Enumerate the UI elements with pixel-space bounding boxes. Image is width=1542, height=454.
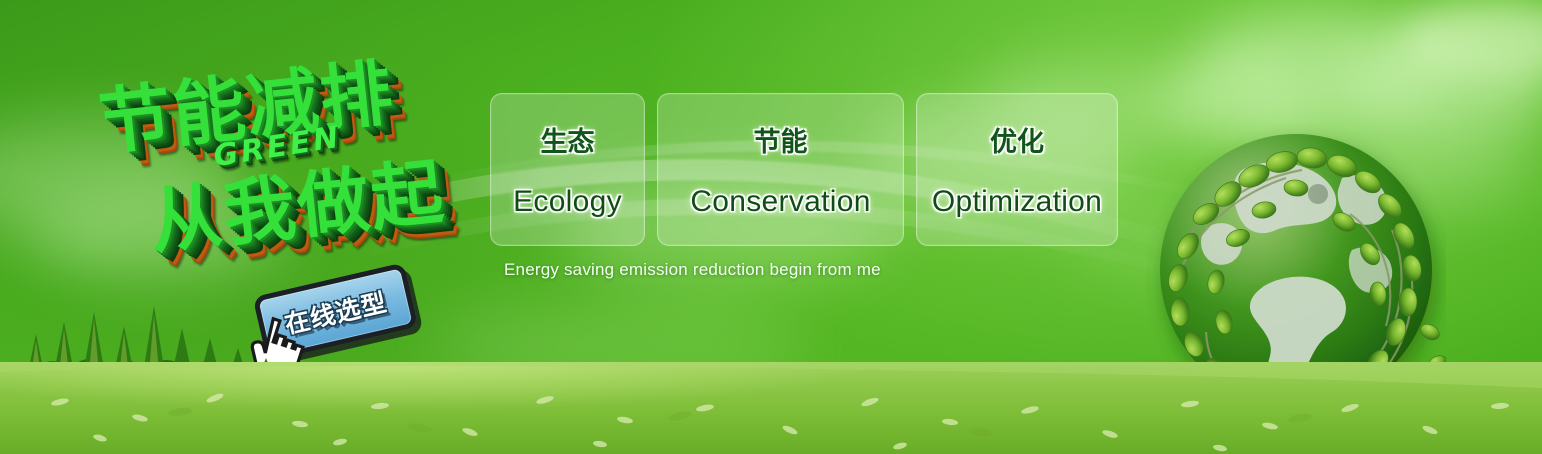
- grass-meadow: [0, 362, 1542, 454]
- feature-card-optimization[interactable]: 优化 Optimization: [916, 93, 1118, 246]
- meadow-leaf-speckles: [0, 362, 1542, 454]
- banner-tagline: Energy saving emission reduction begin f…: [504, 260, 881, 280]
- feature-card-group: 生态 Ecology 节能 Conservation 优化 Optimizati…: [490, 93, 1118, 246]
- feature-card-conservation[interactable]: 节能 Conservation: [657, 93, 904, 246]
- feature-card-title-cn: 生态: [541, 120, 595, 159]
- feature-card-title-cn: 优化: [990, 120, 1044, 159]
- feature-card-ecology[interactable]: 生态 Ecology: [490, 93, 645, 246]
- feature-card-title-cn: 节能: [754, 120, 808, 159]
- headline-3d-art: 节能减排 GREEN 从我做起: [81, 16, 504, 296]
- feature-card-title-en: Ecology: [513, 185, 622, 219]
- green-promo-banner: 节能减排 GREEN 从我做起 生态 Ecology 节能 Conservati…: [0, 0, 1542, 454]
- feature-card-title-en: Conservation: [690, 185, 870, 219]
- feature-card-title-en: Optimization: [932, 185, 1102, 219]
